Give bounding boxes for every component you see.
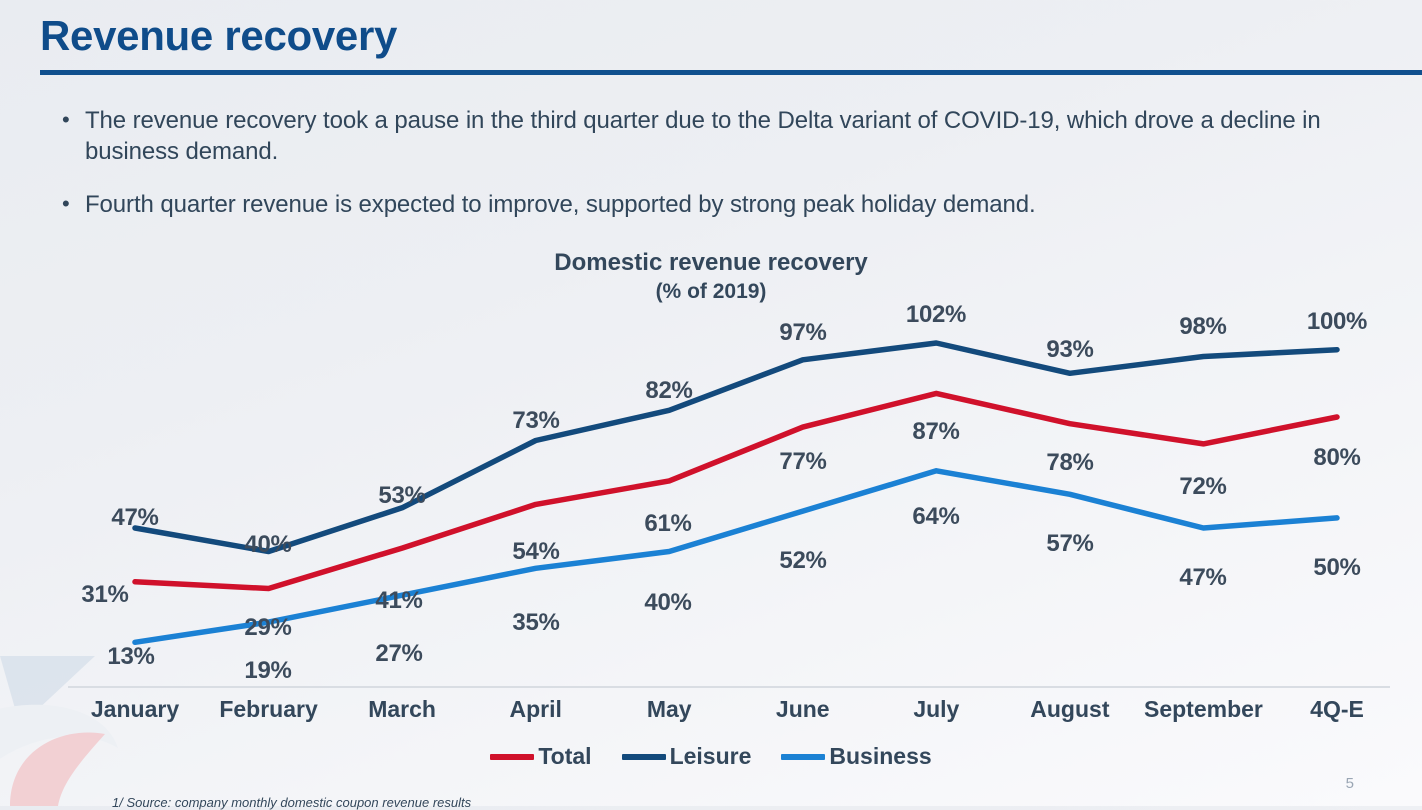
x-axis-tick-february: February [219,696,317,723]
legend-swatch-icon [781,754,825,760]
x-axis-tick-august: August [1030,696,1109,723]
data-label: 35% [512,609,559,637]
x-axis-tick-july: July [913,696,959,723]
legend-swatch-icon [490,754,534,760]
series-line-business [135,471,1337,643]
legend-swatch-icon [622,754,666,760]
data-label: 50% [1313,554,1360,582]
legend-item-total[interactable]: Total [490,743,591,770]
footnote: 1/ Source: company monthly domestic coup… [112,795,471,810]
page-title: Revenue recovery [0,12,1422,60]
series-line-leisure [135,343,1337,552]
data-label: 80% [1313,444,1360,472]
data-label: 13% [107,643,154,671]
chart-legend: TotalLeisureBusiness [0,743,1422,770]
data-label: 97% [779,319,826,347]
slide-header: Revenue recovery [0,12,1422,60]
data-label: 41% [375,587,422,615]
x-axis-tick-june: June [776,696,830,723]
x-axis-tick-september: September [1144,696,1263,723]
x-axis-labels: JanuaryFebruaryMarchAprilMayJuneJulyAugu… [0,696,1422,736]
bullet-text: Fourth quarter revenue is expected to im… [85,189,1036,220]
data-label: 72% [1179,473,1226,501]
bullet-list: • The revenue recovery took a pause in t… [40,105,1400,243]
data-label: 93% [1046,336,1093,364]
chart-plot-area: 31%29%41%54%61%77%87%78%72%80%47%40%53%7… [0,248,1422,698]
data-label: 19% [244,657,291,685]
data-label: 64% [912,503,959,531]
x-axis-tick-may: May [647,696,692,723]
data-label: 52% [779,547,826,575]
data-label: 47% [1179,564,1226,592]
data-label: 61% [644,510,691,538]
data-label: 73% [512,407,559,435]
x-axis-tick-4q-e: 4Q-E [1310,696,1364,723]
legend-label: Total [538,743,591,770]
chart: Domestic revenue recovery (% of 2019) 31… [0,248,1422,748]
legend-item-business[interactable]: Business [781,743,931,770]
data-label: 82% [645,377,692,405]
data-label: 98% [1179,313,1226,341]
legend-label: Leisure [670,743,752,770]
data-label: 54% [512,538,559,566]
data-label: 31% [81,581,128,609]
data-label: 53% [378,482,425,510]
data-label: 40% [244,531,291,559]
page-number: 5 [1346,775,1354,792]
x-axis-tick-january: January [91,696,179,723]
bullet-text: The revenue recovery took a pause in the… [85,105,1400,167]
legend-label: Business [829,743,931,770]
x-axis-line [68,686,1390,688]
data-label: 102% [906,301,966,329]
list-item: • The revenue recovery took a pause in t… [40,105,1400,167]
x-axis-tick-march: March [368,696,436,723]
title-underline [40,70,1422,75]
bullet-marker: • [40,105,85,135]
data-label: 29% [244,614,291,642]
data-label: 77% [779,448,826,476]
data-label: 100% [1307,308,1367,336]
data-label: 57% [1046,530,1093,558]
list-item: • Fourth quarter revenue is expected to … [40,189,1400,220]
data-label: 47% [111,504,158,532]
series-line-total [135,393,1337,588]
legend-item-leisure[interactable]: Leisure [622,743,752,770]
data-label: 78% [1046,449,1093,477]
data-label: 87% [912,418,959,446]
bullet-marker: • [40,189,85,219]
data-label: 27% [375,640,422,668]
x-axis-tick-april: April [509,696,561,723]
data-label: 40% [644,589,691,617]
